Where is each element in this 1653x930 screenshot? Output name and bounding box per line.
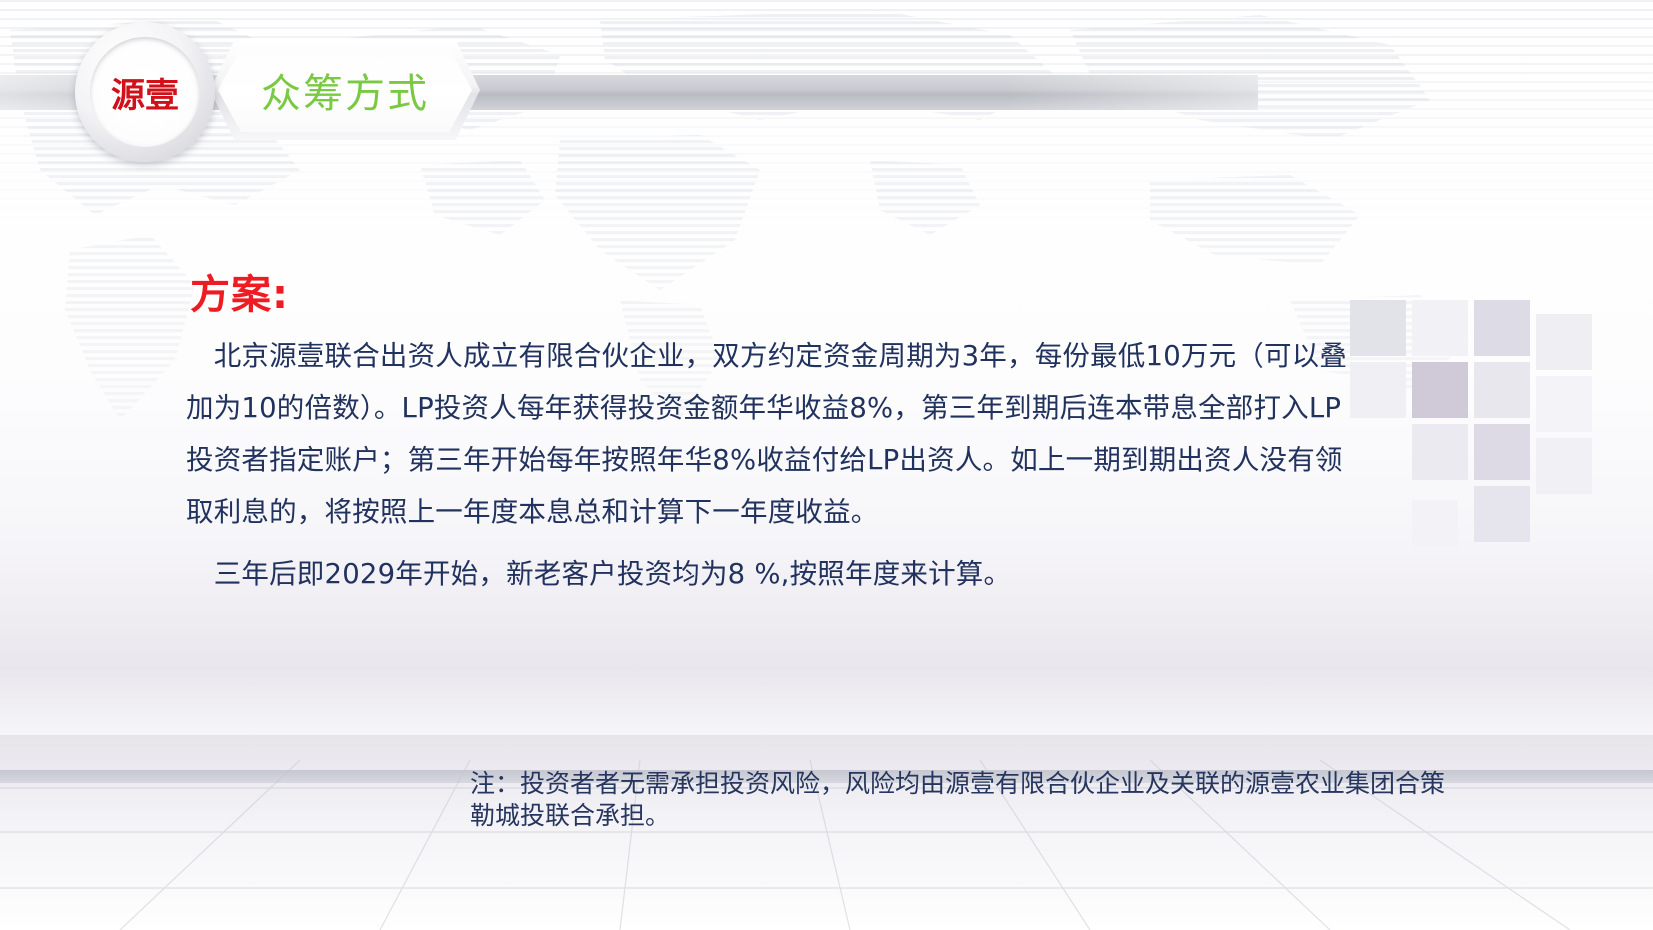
body-line: 加为10的倍数）。LP投资人每年获得投资金额年华收益8%，第三年到期后连本带息全… [186,382,1416,434]
body-line: 三年后即2029年开始，新老客户投资均为8 %,按照年度来计算。 [186,548,1416,600]
slide-canvas: 众筹方式 源壹 方案: 北京源壹联合出资人成立有限合伙企业，双方约定资金周期为3… [0,0,1653,930]
footer-note-line: 注：投资者者无需承担投资风险，风险均由源壹有限合伙企业及关联的源壹农业集团合策 [470,768,1520,800]
body-text-block: 北京源壹联合出资人成立有限合伙企业，双方约定资金周期为3年，每份最低10万元（可… [186,330,1416,600]
body-line: 取利息的，将按照上一年度本息总和计算下一年度收益。 [186,486,1416,538]
footer-note-line: 勒城投联合承担。 [470,800,1520,832]
body-line: 北京源壹联合出资人成立有限合伙企业，双方约定资金周期为3年，每份最低10万元（可… [186,330,1416,382]
body-line: 投资者指定账户；第三年开始每年按照年华8%收益付给LP出资人。如上一期到期出资人… [186,434,1416,486]
footer-note: 注：投资者者无需承担投资风险，风险均由源壹有限合伙企业及关联的源壹农业集团合策 … [470,768,1520,832]
page-title: 方案: [190,262,289,320]
section-title: 众筹方式 [218,48,472,132]
brand-badge-label: 源壹 [90,37,200,147]
